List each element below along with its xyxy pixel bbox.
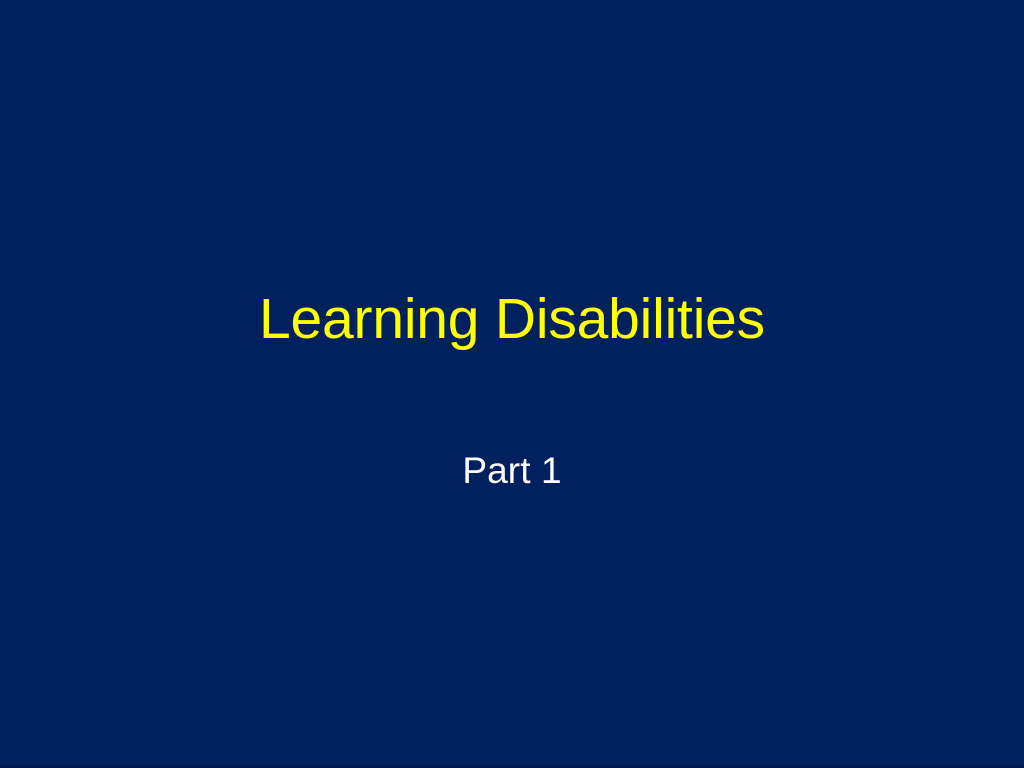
slide-content-area: Learning Disabilities Part 1 xyxy=(0,0,1024,768)
presentation-slide: Learning Disabilities Part 1 xyxy=(0,0,1024,768)
slide-title: Learning Disabilities xyxy=(259,287,765,353)
title-placeholder[interactable]: Learning Disabilities xyxy=(0,281,1024,359)
slide-subtitle: Part 1 xyxy=(462,449,561,493)
subtitle-placeholder[interactable]: Part 1 xyxy=(0,443,1024,499)
